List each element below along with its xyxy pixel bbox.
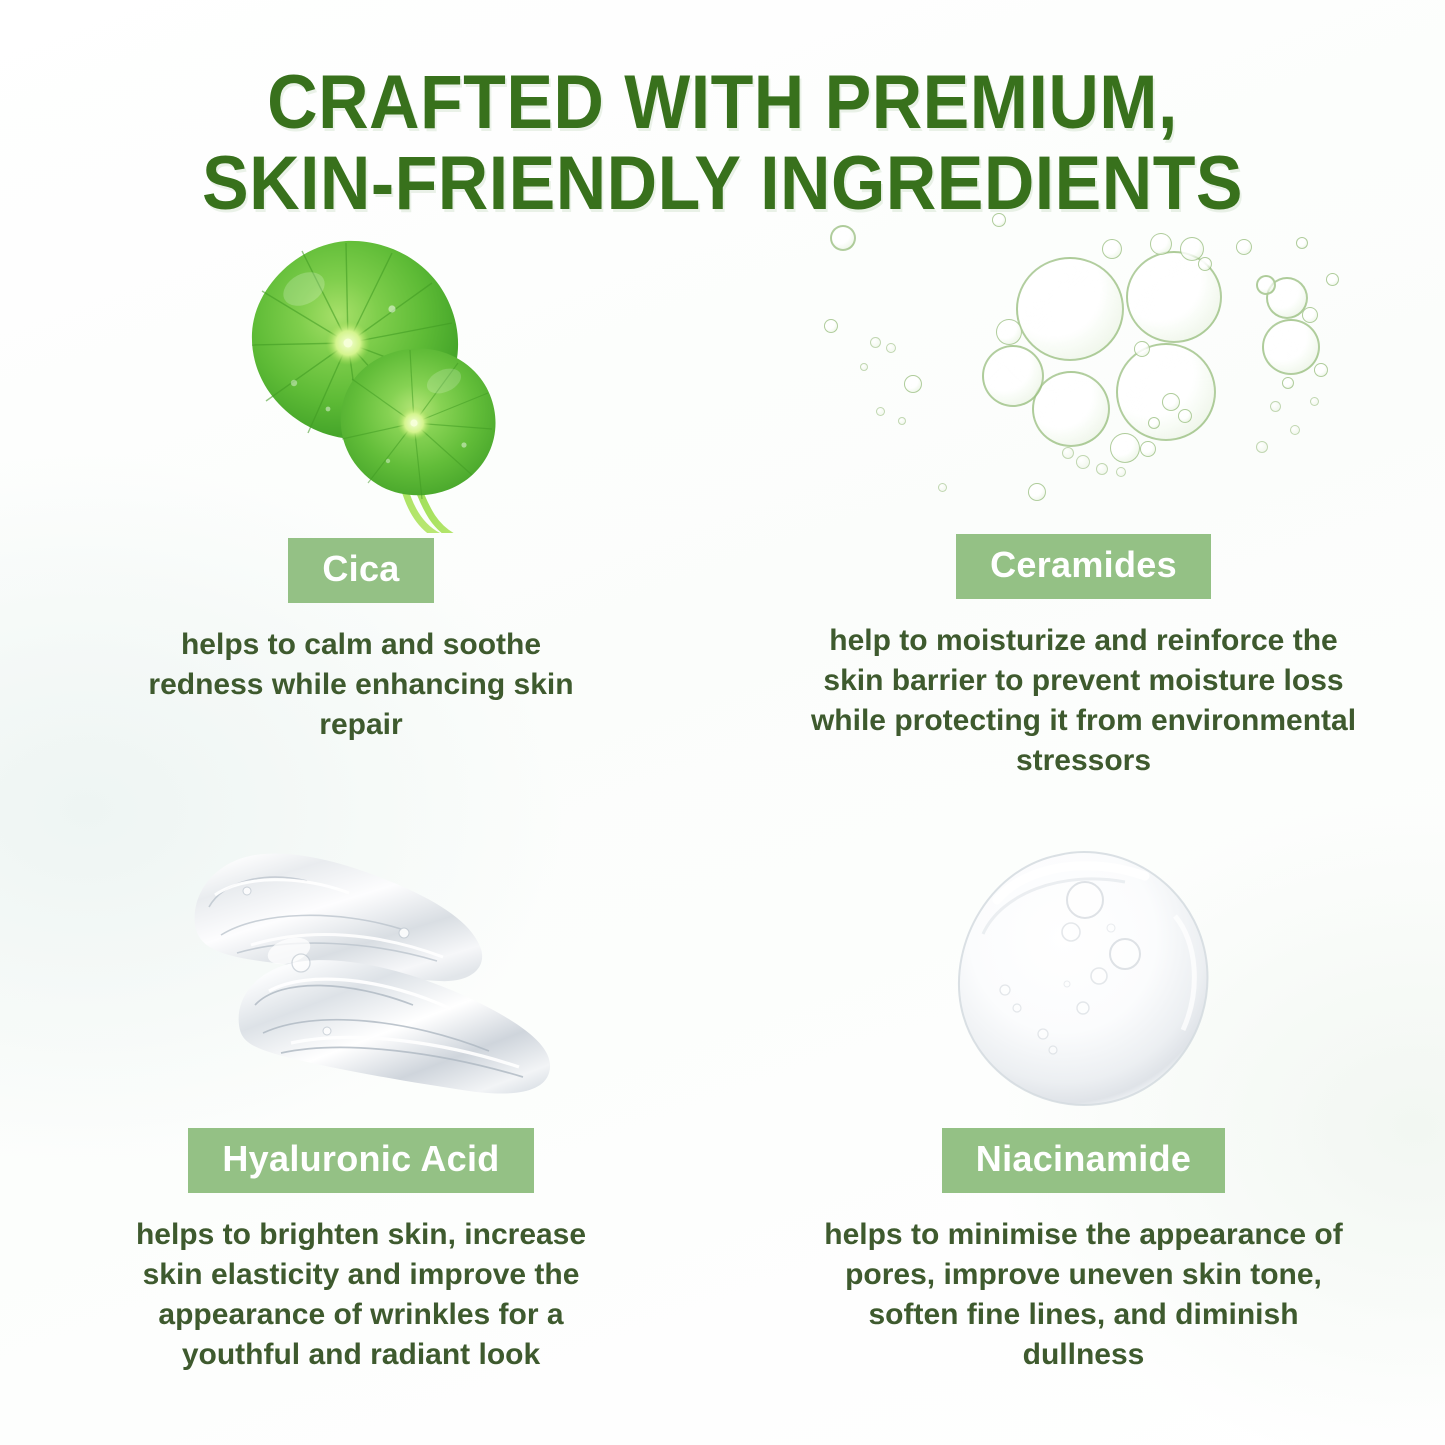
ingredient-card-hyaluronic-acid: Hyaluronic Acid helps to brighten skin, … (0, 828, 722, 1445)
ingredient-card-niacinamide: Niacinamide helps to minimise the appear… (722, 828, 1445, 1445)
green-bubbles-cluster-icon (804, 211, 1364, 531)
ingredient-description: help to moisturize and reinforce the ski… (804, 621, 1364, 781)
ceramides-image-area (722, 208, 1445, 534)
clear-gel-swatch-icon (151, 833, 571, 1123)
cica-image-area (0, 208, 722, 538)
ingredient-name-badge: Niacinamide (942, 1128, 1225, 1193)
ingredients-infographic: CRAFTED WITH PREMIUM, SKIN-FRIENDLY INGR… (0, 0, 1445, 1445)
ingredient-name-badge: Hyaluronic Acid (188, 1128, 533, 1193)
ingredient-description: helps to minimise the appearance of pore… (804, 1215, 1364, 1375)
leaves-svg (196, 213, 526, 533)
ingredient-name-badge: Ceramides (956, 534, 1211, 599)
ingredient-description: helps to brighten skin, increase skin el… (126, 1215, 596, 1375)
leaf-small (341, 348, 496, 499)
gel-stroke-lower (239, 960, 550, 1093)
niacinamide-image-area (722, 828, 1445, 1128)
headline-line-1: CRAFTED WITH PREMIUM, (95, 66, 1351, 140)
gel-svg (151, 833, 571, 1123)
ingredient-description: helps to calm and soothe redness while e… (146, 625, 576, 745)
ingredients-grid: Cica helps to calm and soothe redness wh… (0, 208, 1445, 1445)
hyaluronic-acid-image-area (0, 828, 722, 1128)
centella-asiatica-leaves-icon (196, 213, 526, 533)
droplet-svg (939, 838, 1229, 1118)
ingredient-card-ceramides: Ceramides help to moisturize and reinfor… (722, 208, 1445, 828)
clear-serum-droplet-icon (939, 838, 1229, 1118)
ingredient-card-cica: Cica helps to calm and soothe redness wh… (0, 208, 722, 828)
page-title: CRAFTED WITH PREMIUM, SKIN-FRIENDLY INGR… (0, 66, 1445, 222)
ingredient-name-badge: Cica (288, 538, 433, 603)
